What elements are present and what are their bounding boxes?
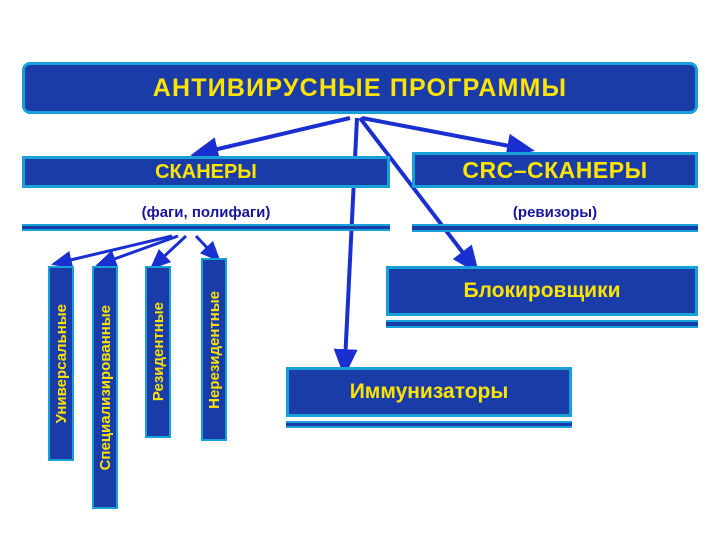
node-scanners-underline — [22, 224, 390, 231]
node-scanner-type-resident: Резидентные — [145, 266, 171, 438]
node-immunizers-underline — [286, 421, 572, 428]
scanner-type-label: Нерезидентные — [207, 291, 222, 409]
node-blockers: Блокировщики — [386, 266, 698, 316]
scanner-type-label: Универсальные — [54, 304, 69, 423]
scanner-type-label: Специализированные — [98, 305, 113, 470]
diagram-canvas: АНТИВИРУСНЫЕ ПРОГРАММЫ СКАНЕРЫ (фаги, по… — [0, 0, 720, 540]
node-blockers-underline — [386, 320, 698, 328]
node-scanners-subtitle: (фаги, полифаги) — [22, 200, 390, 224]
node-crc-scanners-underline — [412, 224, 698, 232]
scanner-type-label: Резидентные — [151, 302, 166, 401]
node-scanner-type-universal: Универсальные — [48, 266, 74, 461]
page-title: АНТИВИРУСНЫЕ ПРОГРАММЫ — [22, 62, 698, 114]
node-scanners: СКАНЕРЫ — [22, 156, 390, 188]
node-scanner-type-nonresident: Нерезидентные — [201, 258, 227, 441]
node-crc-scanners-subtitle: (ревизоры) — [412, 200, 698, 224]
node-immunizers: Иммунизаторы — [286, 367, 572, 417]
node-crc-scanners: CRC–СКАНЕРЫ — [412, 152, 698, 188]
node-scanner-type-specialized: Специализированные — [92, 266, 118, 509]
